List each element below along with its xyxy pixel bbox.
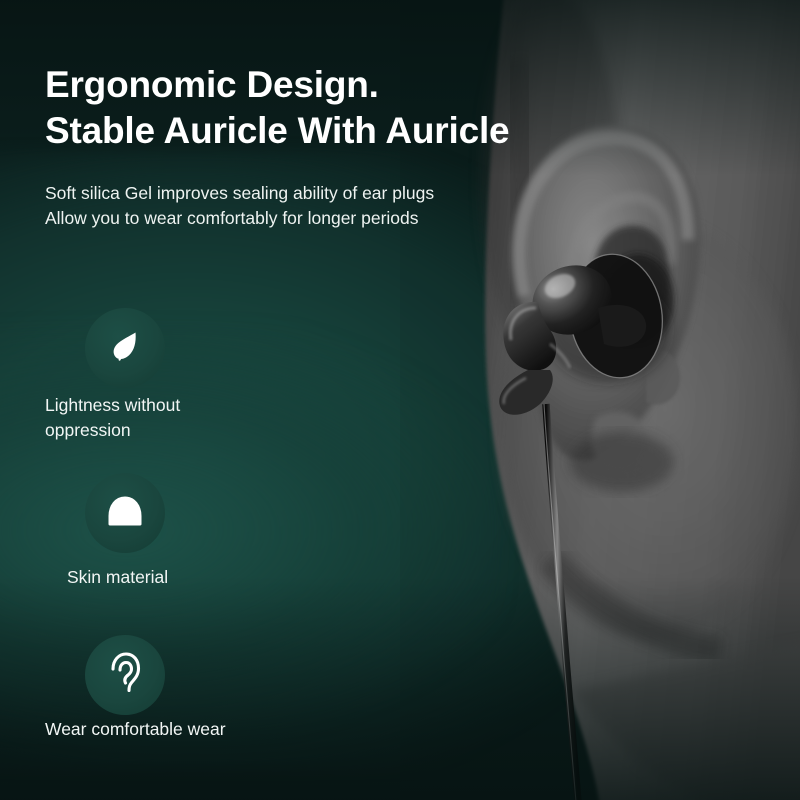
- feature-label: Wear comfortable wear: [45, 717, 325, 742]
- feature-label: Lightness without oppression: [45, 393, 305, 443]
- eartip-icon: [103, 494, 147, 533]
- subtitle: Soft silica Gel improves sealing ability…: [45, 181, 515, 231]
- page-title: Ergonomic Design. Stable Auricle With Au…: [45, 62, 565, 154]
- feature-icon-badge: [85, 308, 165, 388]
- product-banner: Ergonomic Design. Stable Auricle With Au…: [0, 0, 800, 800]
- feature-label: Skin material: [67, 565, 327, 590]
- feature-icon-badge: [85, 635, 165, 715]
- leaf-icon: [105, 326, 145, 371]
- feature-icon-badge: [85, 473, 165, 553]
- ear-icon: [104, 651, 146, 700]
